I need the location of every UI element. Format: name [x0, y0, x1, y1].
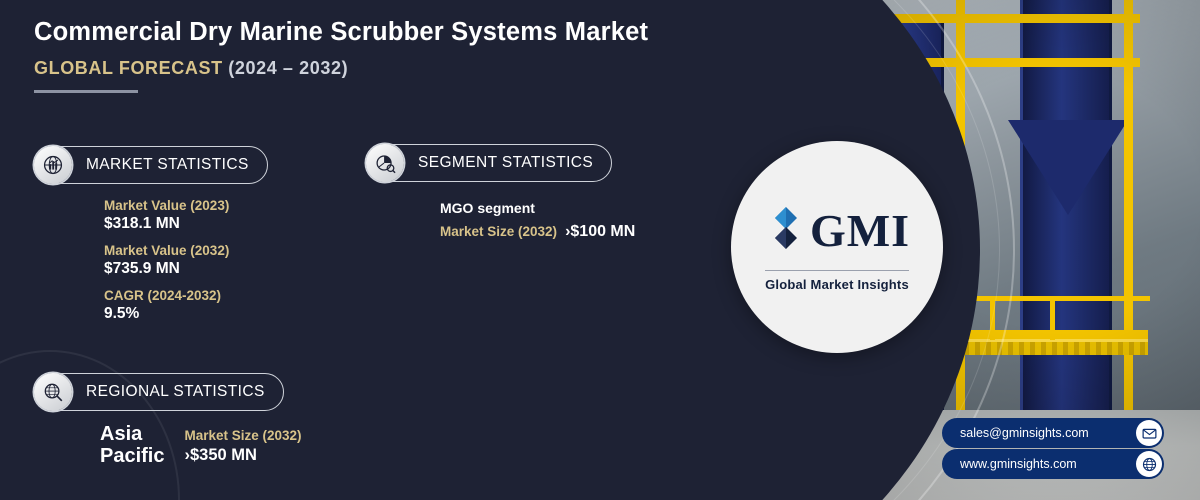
market-stat-label: Market Value (2032) [104, 243, 229, 258]
contact-email-button[interactable]: sales@gminsights.com [942, 418, 1164, 448]
market-stat-value: $735.9 MN [104, 260, 229, 278]
subtitle-lead: GLOBAL FORECAST [34, 58, 223, 78]
logo-lockup: GMI [764, 203, 910, 258]
market-stat-label: Market Value (2023) [104, 198, 229, 213]
segment-stat-label: Market Size (2032) [440, 224, 557, 239]
company-logo: GMI Global Market Insights [731, 141, 943, 353]
market-statistics-pill: MARKET STATISTICS [34, 146, 268, 184]
globe-chart-icon [34, 146, 72, 184]
globe-search-icon [34, 373, 72, 411]
pie-chart-icon [366, 144, 404, 182]
diamond-logo-icon [764, 203, 808, 258]
subtitle-years: (2024 – 2032) [228, 58, 348, 78]
logo-text: GMI [810, 204, 910, 257]
contact-website-button[interactable]: www.gminsights.com [942, 449, 1164, 479]
segment-stat-value: ›$100 MN [565, 223, 635, 241]
title-underline [34, 90, 138, 93]
segment-statistics-pill: SEGMENT STATISTICS [366, 144, 612, 182]
market-statistics-list: Market Value (2023) $318.1 MN Market Val… [104, 198, 229, 333]
regional-statistics-label: REGIONAL STATISTICS [86, 383, 265, 401]
market-statistics-label: MARKET STATISTICS [86, 156, 249, 174]
market-report-poster: Commercial Dry Marine Scrubber Systems M… [0, 0, 1200, 500]
market-stat-item: Market Value (2023) $318.1 MN [104, 198, 229, 233]
logo-subtitle: Global Market Insights [765, 270, 909, 292]
globe-icon [1136, 451, 1162, 477]
segment-statistics-content: MGO segment Market Size (2032) ›$100 MN [440, 200, 635, 241]
regional-statistics-content: Asia Pacific Market Size (2032) ›$350 MN [100, 424, 302, 467]
regional-statistics-pill: REGIONAL STATISTICS [34, 373, 284, 411]
envelope-icon [1136, 420, 1162, 446]
region-name-line2: Pacific [100, 446, 164, 468]
region-stat-value: ›$350 MN [184, 446, 301, 465]
region-stat-item: Market Size (2032) ›$350 MN [184, 424, 301, 465]
contact-website-text: www.gminsights.com [960, 457, 1136, 471]
segment-name: MGO segment [440, 200, 635, 216]
segment-stat-item: Market Size (2032) ›$100 MN [440, 223, 635, 241]
segment-statistics-label: SEGMENT STATISTICS [418, 154, 593, 172]
region-stat-label: Market Size (2032) [184, 428, 301, 443]
market-stat-item: CAGR (2024-2032) 9.5% [104, 288, 229, 323]
region-name: Asia Pacific [100, 424, 164, 467]
market-stat-value: $318.1 MN [104, 215, 229, 233]
region-name-line1: Asia [100, 424, 164, 446]
page-subtitle: GLOBAL FORECAST (2024 – 2032) [34, 58, 348, 79]
market-stat-value: 9.5% [104, 305, 229, 323]
page-title: Commercial Dry Marine Scrubber Systems M… [34, 18, 648, 47]
market-stat-label: CAGR (2024-2032) [104, 288, 229, 303]
contact-email-text: sales@gminsights.com [960, 426, 1136, 440]
market-stat-item: Market Value (2032) $735.9 MN [104, 243, 229, 278]
